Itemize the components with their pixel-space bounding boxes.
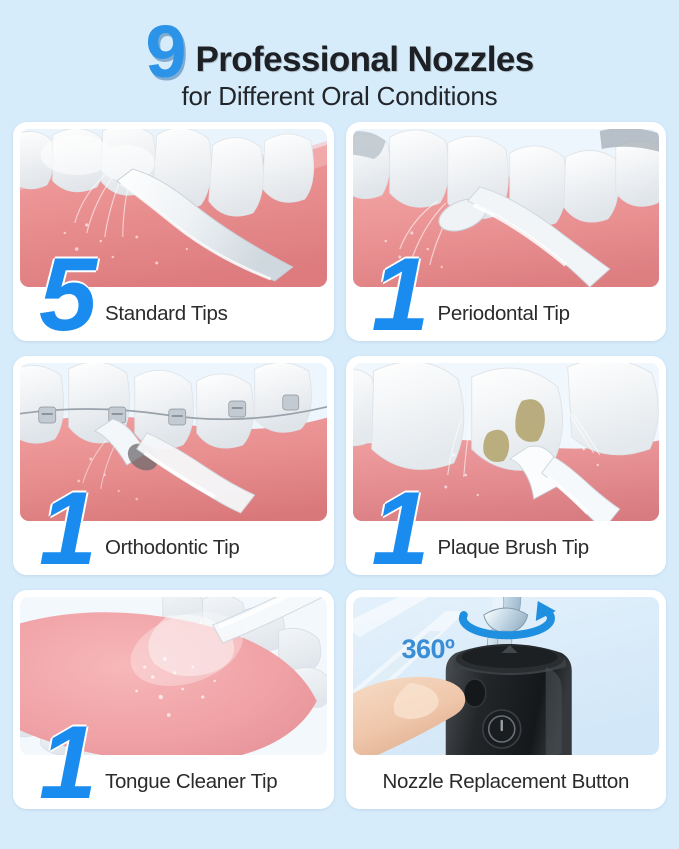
card-label-text: Nozzle Replacement Button (382, 770, 629, 794)
nozzle-card-orthodontic[interactable]: 1 Orthodontic Tip (13, 356, 334, 575)
page-title: Professional Nozzles (196, 40, 534, 80)
card-number: 5 (39, 256, 93, 335)
nozzle-card-replacement-button[interactable]: 360º Nozzle Replacement Button (346, 590, 667, 809)
page-subtitle: for Different Oral Conditions (182, 81, 498, 112)
nozzle-replacement-illustration (353, 597, 660, 755)
card-number: 1 (39, 724, 93, 803)
nozzle-count: 9 (145, 20, 184, 84)
card-number: 1 (372, 256, 426, 335)
nozzle-card-standard[interactable]: 5 Standard Tips (13, 122, 334, 341)
nozzle-card-grid: 5 Standard Tips (0, 122, 679, 809)
card-number: 1 (372, 490, 426, 569)
nozzle-card-plaque-brush[interactable]: 1 Plaque Brush Tip (346, 356, 667, 575)
nozzle-card-periodontal[interactable]: 1 Periodontal Tip (346, 122, 667, 341)
page-header: 9 Professional Nozzles for Different Ora… (0, 0, 679, 122)
card-number: 1 (39, 490, 93, 569)
card-label: Nozzle Replacement Button (346, 755, 667, 809)
rotation-badge: 360º (402, 634, 455, 665)
nozzle-card-tongue-cleaner[interactable]: 1 Tongue Cleaner Tip (13, 590, 334, 809)
title-row: 9 Professional Nozzles (145, 14, 533, 76)
